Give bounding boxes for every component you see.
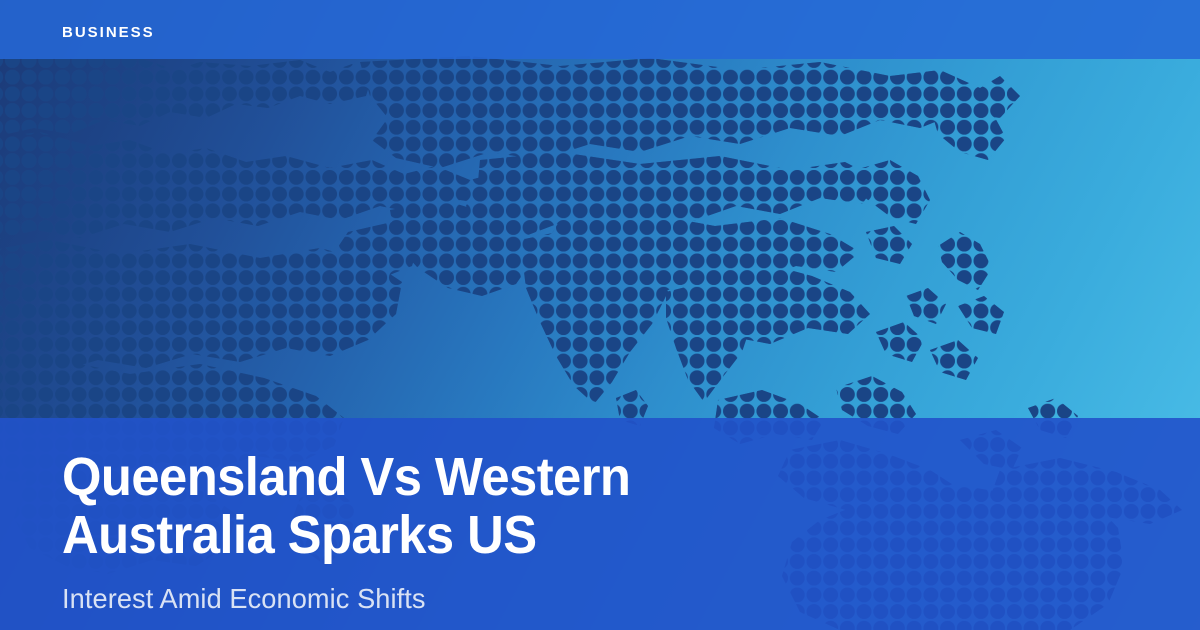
article-hero-card: BUSINESS Queensland Vs Western Australia…: [0, 0, 1200, 630]
category-band: [0, 0, 1200, 59]
category-label[interactable]: BUSINESS: [62, 25, 155, 40]
headline-title: Queensland Vs Western Australia Sparks U…: [62, 449, 852, 565]
headline-subtitle: Interest Amid Economic Shifts: [62, 582, 426, 616]
